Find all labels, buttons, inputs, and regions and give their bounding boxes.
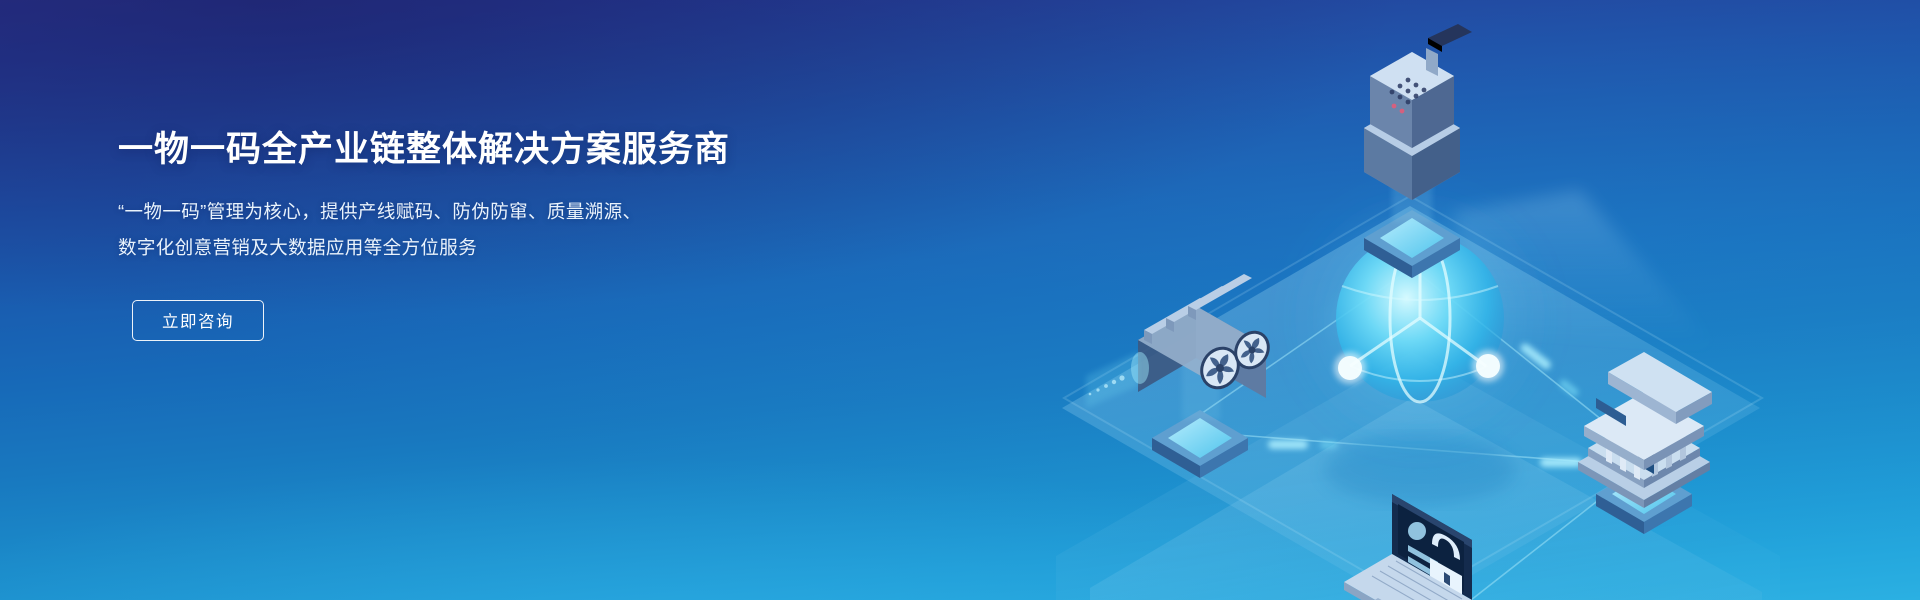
consult-now-button[interactable]: 立即咨询 xyxy=(132,300,264,341)
hero-banner: 一物一码全产业链整体解决方案服务商 “一物一码”管理为核心，提供产线赋码、防伪防… xyxy=(0,0,1920,600)
subtitle-line-1: “一物一码”管理为核心，提供产线赋码、防伪防窜、质量溯源、 xyxy=(118,194,738,230)
hero-illustration xyxy=(1020,0,1920,600)
hero-subtitle: “一物一码”管理为核心，提供产线赋码、防伪防窜、质量溯源、 数字化创意营销及大数… xyxy=(118,194,738,266)
hero-copy: 一物一码全产业链整体解决方案服务商 “一物一码”管理为核心，提供产线赋码、防伪防… xyxy=(118,128,738,341)
page-title: 一物一码全产业链整体解决方案服务商 xyxy=(118,128,738,172)
pos-terminal-icon xyxy=(1364,24,1472,278)
subtitle-line-2: 数字化创意营销及大数据应用等全方位服务 xyxy=(118,230,738,266)
